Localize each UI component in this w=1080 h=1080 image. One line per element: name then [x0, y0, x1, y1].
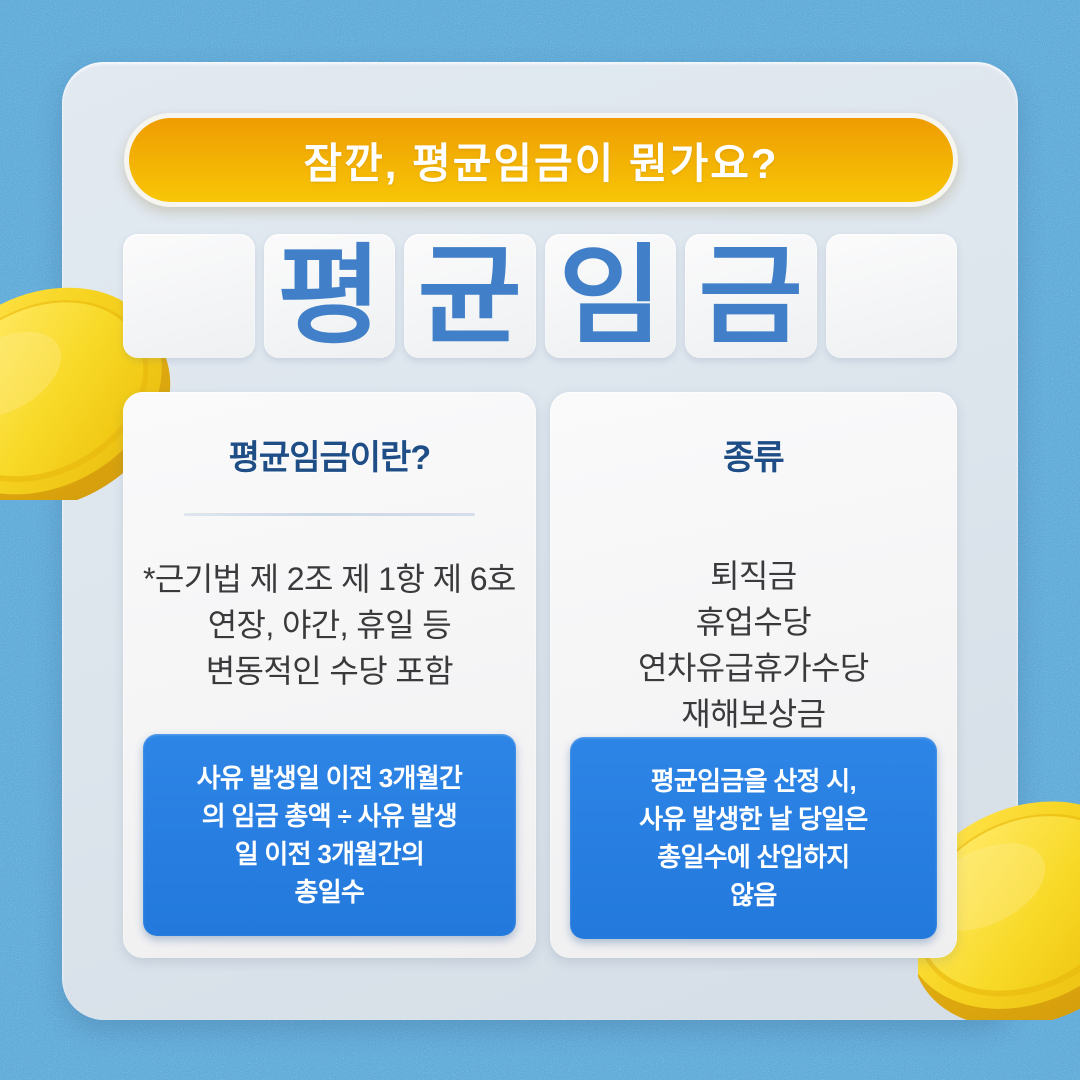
highlight-line: 평균임금을 산정 시, [586, 762, 921, 800]
tile-letter: 평 [277, 242, 381, 350]
body-line: 변동적인 수당 포함 [143, 648, 516, 694]
body-line: 재해보상금 [638, 691, 869, 737]
content-cards: 평균임금이란? *근기법 제 2조 제 1항 제 6호 연장, 야간, 휴일 등… [123, 392, 957, 958]
tile-letter: 금 [699, 242, 803, 350]
tile-blank-right [826, 234, 958, 358]
word-tiles-row: 평 균 임 금 [123, 234, 957, 358]
tile-pyeong: 평 [264, 234, 396, 358]
card-body: 퇴직금 휴업수당 연차유급휴가수당 재해보상금 [638, 553, 869, 737]
highlight-line: 사유 발생한 날 당일은 [586, 800, 921, 838]
highlight-line: 총일수에 산입하지 [586, 838, 921, 876]
card-title: 종류 [723, 430, 784, 479]
highlight-line: 의 임금 총액 ÷ 사유 발생 [159, 797, 500, 835]
formula-highlight-box: 사유 발생일 이전 3개월간 의 임금 총액 ÷ 사유 발생 일 이전 3개월간… [143, 734, 516, 936]
header-banner: 잠깐, 평균임금이 뭔가요? [124, 113, 958, 207]
body-line: 연장, 야간, 휴일 등 [143, 602, 516, 648]
card-title: 평균임금이란? [229, 430, 430, 479]
note-highlight-box: 평균임금을 산정 시, 사유 발생한 날 당일은 총일수에 산입하지 않음 [570, 737, 937, 939]
body-line: *근기법 제 2조 제 1항 제 6호 [143, 556, 516, 602]
tile-letter: 임 [558, 242, 662, 350]
card-body: *근기법 제 2조 제 1항 제 6호 연장, 야간, 휴일 등 변동적인 수당… [143, 556, 516, 694]
tile-geum: 금 [685, 234, 817, 358]
highlight-line: 일 이전 3개월간의 [159, 835, 500, 873]
tile-blank-left [123, 234, 255, 358]
body-line: 연차유급휴가수당 [638, 645, 869, 691]
card-divider [184, 513, 475, 516]
card-definition: 평균임금이란? *근기법 제 2조 제 1항 제 6호 연장, 야간, 휴일 등… [123, 392, 536, 958]
tile-im: 임 [545, 234, 677, 358]
infographic-canvas: 잠깐, 평균임금이 뭔가요? 평 균 임 금 평균임금이란? *근기법 제 2조… [0, 0, 1080, 1080]
body-line: 퇴직금 [638, 553, 869, 599]
header-title: 잠깐, 평균임금이 뭔가요? [303, 130, 778, 191]
highlight-line: 않음 [586, 876, 921, 914]
body-line: 휴업수당 [638, 599, 869, 645]
highlight-line: 사유 발생일 이전 3개월간 [159, 759, 500, 797]
tile-letter: 균 [418, 242, 522, 350]
tile-gyun: 균 [404, 234, 536, 358]
highlight-line: 총일수 [159, 873, 500, 911]
card-types: 종류 퇴직금 휴업수당 연차유급휴가수당 재해보상금 평균임금을 산정 시, 사… [550, 392, 957, 958]
